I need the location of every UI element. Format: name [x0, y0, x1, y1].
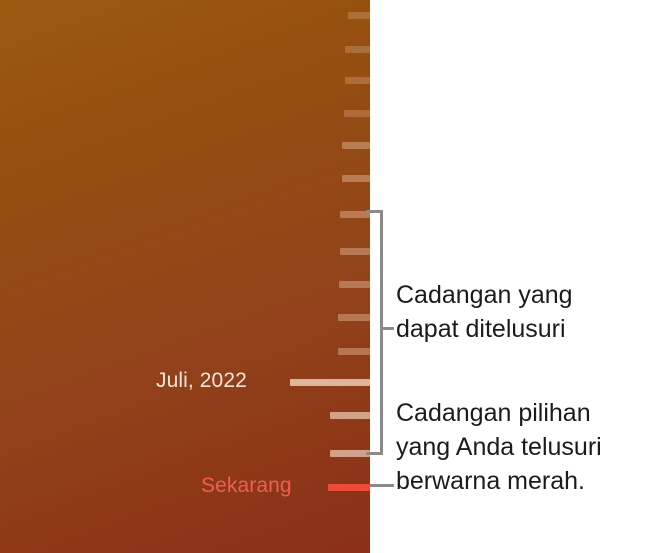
timeline-tick[interactable] [330, 450, 370, 457]
timeline-help-illustration: Juli, 2022 Sekarang Cadangan yang dapat … [0, 0, 652, 553]
timeline-tick[interactable] [339, 281, 370, 288]
timeline-tick[interactable] [345, 46, 370, 53]
callout-selected-line-1: Cadangan pilihan [396, 396, 602, 430]
timeline-panel [0, 0, 370, 553]
timeline-tick[interactable] [338, 314, 370, 321]
timeline-now-label: Sekarang [201, 474, 292, 498]
timeline-tick[interactable] [342, 175, 370, 182]
callout-selected-line-2: yang Anda telusuri [396, 430, 602, 464]
timeline-tick[interactable] [330, 412, 370, 419]
timeline-tick[interactable] [348, 12, 370, 19]
timeline-tick[interactable] [338, 348, 370, 355]
bracket-bottom-arm [366, 452, 383, 455]
timeline-date-label: Juli, 2022 [156, 369, 247, 393]
now-label-stub [370, 484, 394, 487]
timeline-tick[interactable] [340, 248, 370, 255]
callout-selected-backup: Cadangan pilihan yang Anda telusuri berw… [396, 396, 602, 498]
timeline-tick[interactable] [342, 142, 370, 149]
timeline-tick[interactable] [345, 77, 370, 84]
bracket-label-stub [380, 327, 394, 330]
callout-traceable-line-2: dapat ditelusuri [396, 312, 573, 346]
bracket-spine [380, 210, 383, 455]
timeline-tick-selected[interactable] [290, 379, 370, 386]
callout-traceable-line-1: Cadangan yang [396, 278, 573, 312]
callout-selected-line-3: berwarna merah. [396, 464, 602, 498]
timeline-tick-now[interactable] [328, 484, 370, 491]
timeline-tick[interactable] [344, 110, 370, 117]
callout-traceable-backups: Cadangan yang dapat ditelusuri [396, 278, 573, 346]
